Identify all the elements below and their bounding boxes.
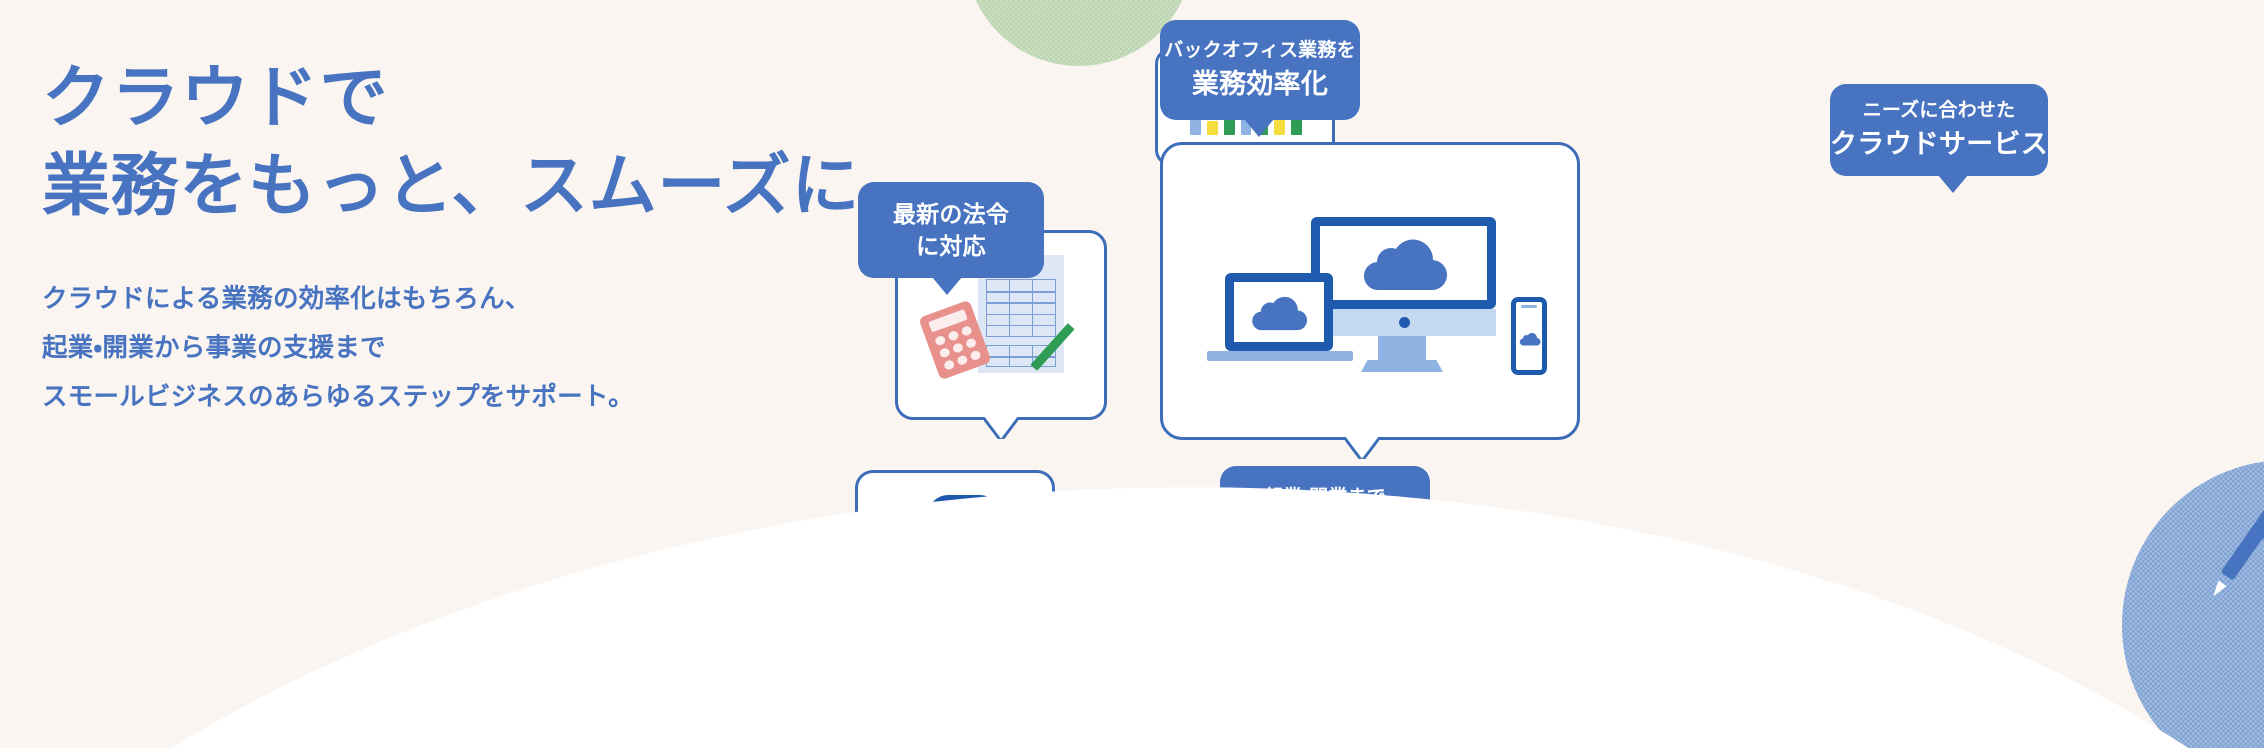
arm	[892, 593, 926, 643]
card-tail	[984, 417, 1018, 439]
bubble-full-support: 起業・開業まで フルサポート	[1220, 466, 1430, 568]
bubble-small-text: ニーズに合わせた	[1863, 98, 2016, 125]
shirt	[916, 581, 1012, 643]
hero-lede: クラウドによる業務の効率化はもちろん、 起業・開業から事業の支援まで スモールビ…	[42, 275, 860, 422]
hero-banner: クラウドで 業務をもっと、スムーズに クラウドによる業務の効率化はもちろん、 起…	[0, 0, 2264, 748]
bubble-tail	[1244, 119, 1274, 137]
cloud-icon	[1245, 293, 1311, 333]
calculator-keys	[934, 325, 982, 371]
cloud-icon	[1517, 331, 1542, 347]
bubble-small-text: 起業・開業まで	[1264, 485, 1386, 512]
eye	[943, 539, 948, 546]
bubble-big-text: フルサポート	[1243, 514, 1407, 549]
bubble-small-text: バックオフィス業務を	[1164, 38, 1356, 65]
person-card	[855, 470, 1055, 638]
lede-line-2: 起業・開業から事業の支援まで	[42, 324, 860, 373]
bubble-cloud-service: ニーズに合わせた クラウドサービス	[1830, 84, 2048, 176]
glasses-left-lens	[936, 533, 960, 557]
pen-body	[2221, 502, 2264, 581]
cloud-icon	[1353, 235, 1453, 293]
bubble-law-compliance: 最新の法令 に対応	[858, 182, 1044, 278]
laptop-base	[1207, 351, 1353, 361]
bubble-big-text: 業務効率化	[1192, 67, 1328, 102]
monitor-stand	[1378, 336, 1426, 360]
headline-line-1: クラウドで	[42, 60, 389, 136]
hero-illustration: バックオフィス業務を 業務効率化 ニーズに合わせた クラウドサービス 最新の法令…	[1240, 0, 2264, 680]
hero-copy: クラウドで 業務をもっと、スムーズに クラウドによる業務の効率化はもちろん、 起…	[42, 54, 860, 422]
monitor-dot	[1399, 317, 1410, 328]
eye	[975, 539, 980, 546]
headline-line-2: 業務をもっと、スムーズに	[42, 148, 860, 224]
lede-line-3: スモールビジネスのあらゆるステップをサポート。	[42, 373, 860, 422]
lede-line-1: クラウドによる業務の効率化はもちろん、	[42, 275, 860, 324]
sheet-grid	[986, 279, 1056, 337]
bubble-small-text: 最新の法令	[893, 198, 1009, 231]
bubble-tail	[1308, 567, 1338, 585]
phone-speaker	[1521, 305, 1537, 308]
bubble-backoffice: バックオフィス業務を 業務効率化	[1160, 20, 1360, 120]
bubble-big-text: に対応	[916, 232, 986, 262]
devices-card	[1160, 142, 1580, 440]
card-tail	[1345, 437, 1379, 459]
pen-icon	[2211, 494, 2264, 594]
bar	[1207, 121, 1218, 136]
bubble-tail	[1938, 175, 1968, 193]
hero-headline: クラウドで 業務をもっと、スムーズに	[42, 54, 860, 231]
glasses-right-lens	[968, 533, 992, 557]
fist-icon	[896, 569, 923, 597]
bubble-tail	[932, 277, 962, 295]
bubble-big-text: クラウドサービス	[1830, 127, 2048, 162]
monitor-foot	[1361, 360, 1443, 372]
glasses-bridge	[956, 541, 968, 544]
pen-tip	[2209, 580, 2226, 599]
